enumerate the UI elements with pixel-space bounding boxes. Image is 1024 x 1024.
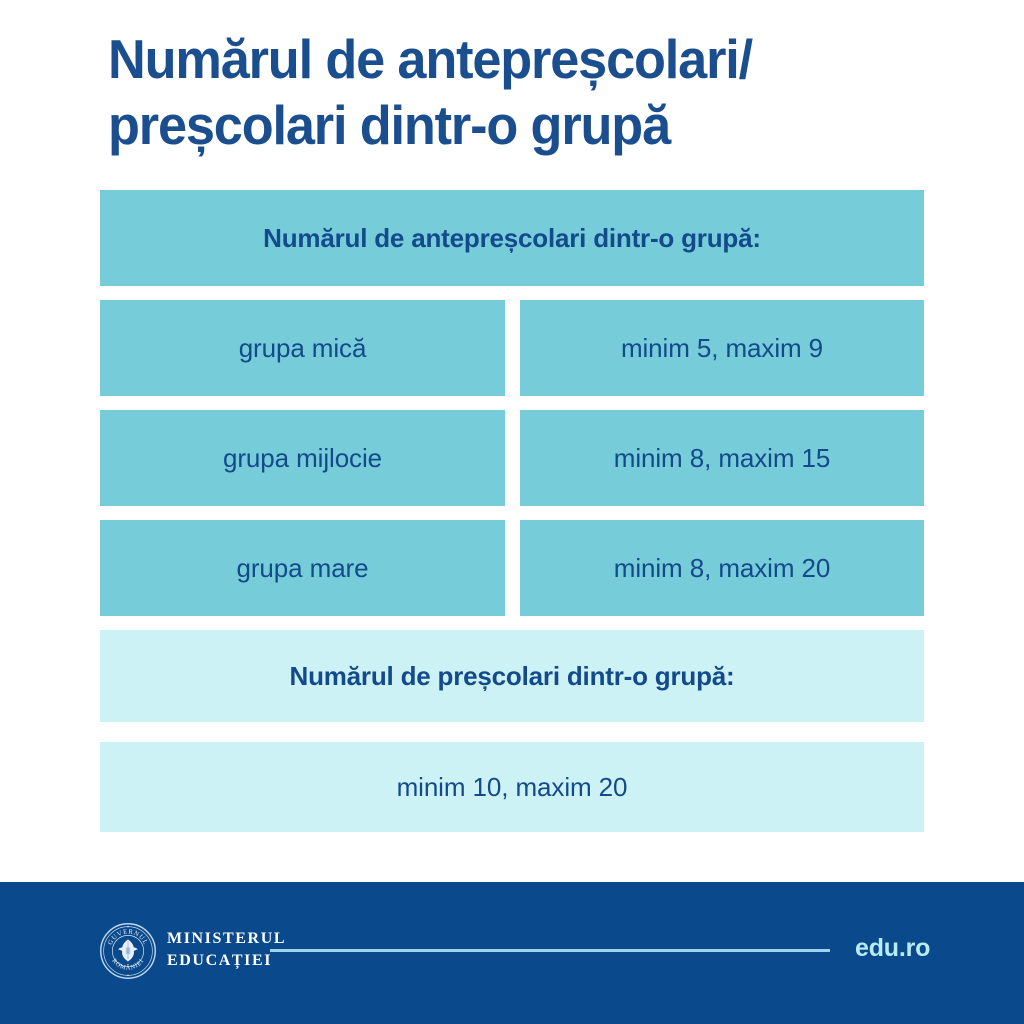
section-value-preschool-text: minim 10, maxim 20: [397, 772, 628, 803]
row-value-cell-grupa-mare: minim 8, maxim 20: [520, 520, 924, 616]
section-value-preschool: minim 10, maxim 20: [100, 742, 924, 832]
government-seal-icon: GUVERNUL ROMÂNIEI: [99, 922, 157, 980]
row-label-cell-grupa-mica: grupa mică: [100, 300, 505, 396]
row-value-cell-grupa-mica: minim 5, maxim 9: [520, 300, 924, 396]
row-value-cell-grupa-mijlocie: minim 8, maxim 15: [520, 410, 924, 506]
infographic-page: Numărul de antepreșcolari/ preșcolari di…: [0, 0, 1024, 1024]
website-link[interactable]: edu.ro: [855, 934, 930, 963]
row-value-text: minim 8, maxim 20: [614, 553, 830, 584]
row-value-text: minim 8, maxim 15: [614, 443, 830, 474]
page-title-line-1: Numărul de antepreșcolari/: [108, 26, 897, 92]
section-header-preschool: Numărul de preșcolari dintr-o grupă:: [100, 630, 924, 722]
row-label-text: grupa mică: [239, 333, 367, 364]
row-label-text: grupa mijlocie: [223, 443, 382, 474]
table-row: grupa mijlocie minim 8, maxim 15: [100, 410, 924, 506]
footer-bar: GUVERNUL ROMÂNIEI MINISTERUL EDUCAȚIEI e…: [0, 882, 1024, 1024]
row-label-cell-grupa-mare: grupa mare: [100, 520, 505, 616]
row-label-cell-grupa-mijlocie: grupa mijlocie: [100, 410, 505, 506]
footer-divider: [270, 949, 830, 952]
ministry-name-line-1: MINISTERUL: [167, 928, 286, 950]
data-table: Numărul de antepreșcolari dintr-o grupă:…: [100, 190, 924, 832]
page-title: Numărul de antepreșcolari/ preșcolari di…: [108, 26, 938, 158]
row-value-text: minim 5, maxim 9: [621, 333, 823, 364]
ministry-name: MINISTERUL EDUCAȚIEI: [167, 928, 286, 972]
government-seal-svg: GUVERNUL ROMÂNIEI: [99, 922, 157, 980]
table-row: grupa mare minim 8, maxim 20: [100, 520, 924, 616]
table-row: grupa mică minim 5, maxim 9: [100, 300, 924, 396]
row-label-text: grupa mare: [237, 553, 369, 584]
section-header-antepreschool: Numărul de antepreșcolari dintr-o grupă:: [100, 190, 924, 286]
section-header-antepreschool-label: Numărul de antepreșcolari dintr-o grupă:: [263, 223, 761, 254]
ministry-name-line-2: EDUCAȚIEI: [167, 950, 286, 972]
page-title-line-2: preșcolari dintr-o grupă: [108, 92, 897, 158]
section-header-preschool-label: Numărul de preșcolari dintr-o grupă:: [290, 661, 735, 692]
